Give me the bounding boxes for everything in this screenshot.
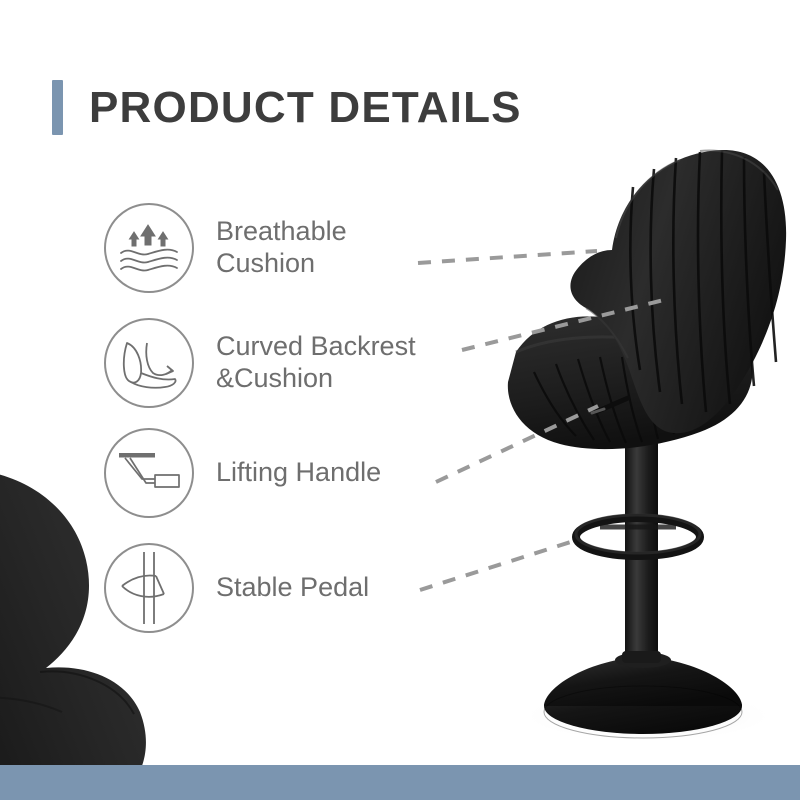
stable-pedal-icon [104, 543, 194, 633]
curved-backrest-icon [104, 318, 194, 408]
feature-label-line1: Lifting Handle [216, 457, 381, 487]
title-accent-bar [52, 80, 63, 135]
feature-breathable-cushion: Breathable Cushion [104, 203, 347, 293]
feature-label-curved-backrest: Curved Backrest &Cushion [216, 331, 416, 395]
page-title-block: PRODUCT DETAILS [52, 80, 522, 135]
feature-lifting-handle: Lifting Handle [104, 428, 381, 518]
feature-label-line1: Breathable [216, 216, 347, 246]
lifting-handle-icon [104, 428, 194, 518]
feature-label-line2: &Cushion [216, 363, 416, 395]
feature-label-breathable-cushion: Breathable Cushion [216, 216, 347, 280]
product-details-infographic: PRODUCT DETAILS Breathable Cushion [0, 0, 800, 800]
bottom-accent-band [0, 765, 800, 800]
breathable-cushion-icon [104, 203, 194, 293]
feature-label-stable-pedal: Stable Pedal [216, 572, 369, 604]
round-base [544, 652, 742, 738]
feature-label-line1: Curved Backrest [216, 331, 416, 361]
page-title: PRODUCT DETAILS [89, 86, 522, 130]
feature-label-line1: Stable Pedal [216, 572, 369, 602]
feature-stable-pedal: Stable Pedal [104, 543, 369, 633]
feature-label-lifting-handle: Lifting Handle [216, 457, 381, 489]
feature-label-line2: Cushion [216, 248, 347, 280]
feature-curved-backrest: Curved Backrest &Cushion [104, 318, 416, 408]
